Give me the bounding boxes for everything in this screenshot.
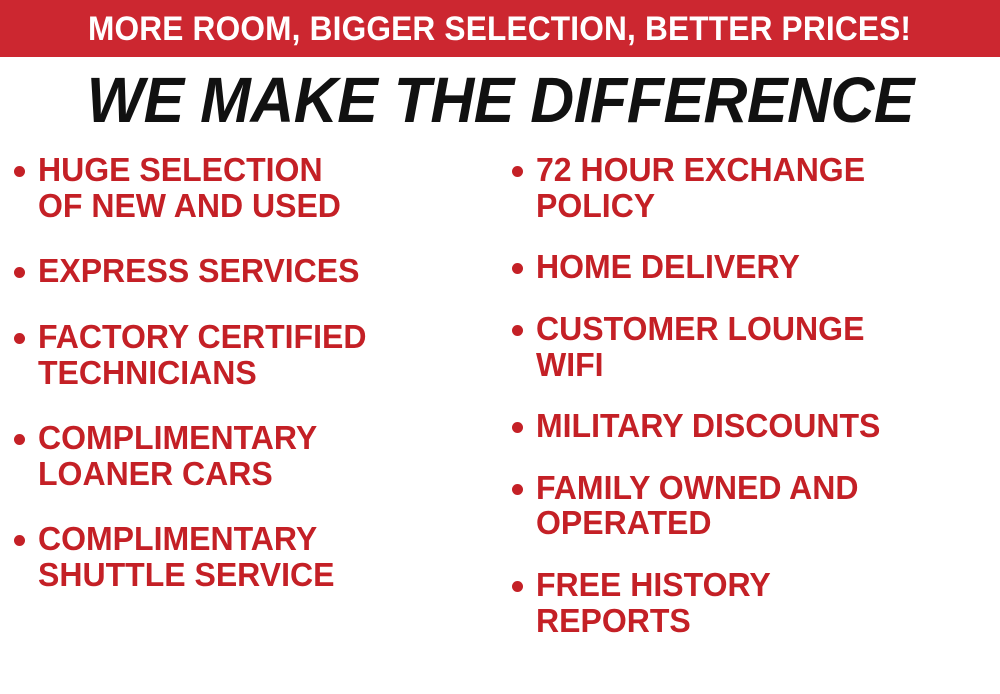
list-item-label: CUSTOMER LOUNGE WIFI [536, 311, 984, 382]
bullet-dot-icon [512, 484, 523, 495]
benefits-columns: HUGE SELECTION OF NEW AND USED EXPRESS S… [0, 152, 1000, 694]
list-item: MILITARY DISCOUNTS [512, 408, 998, 444]
list-item-label: MILITARY DISCOUNTS [536, 408, 984, 444]
bullet-dot-icon [14, 333, 25, 344]
ribbon-header: MORE ROOM, BIGGER SELECTION, BETTER PRIC… [0, 0, 1000, 57]
benefits-column-right: 72 HOUR EXCHANGE POLICY HOME DELIVERY CU… [500, 152, 1000, 664]
list-item-label: FREE HISTORY REPORTS [536, 567, 984, 638]
list-item: FACTORY CERTIFIED TECHNICIANS [14, 319, 496, 390]
list-item: HUGE SELECTION OF NEW AND USED [14, 152, 496, 223]
list-item: HOME DELIVERY [512, 249, 998, 285]
bullet-dot-icon [14, 166, 25, 177]
list-item: COMPLIMENTARY SHUTTLE SERVICE [14, 521, 496, 592]
benefits-column-left: HUGE SELECTION OF NEW AND USED EXPRESS S… [0, 152, 500, 623]
bullet-dot-icon [512, 166, 523, 177]
list-item: COMPLIMENTARY LOANER CARS [14, 420, 496, 491]
main-headline: WE MAKE THE DIFFERENCE [86, 68, 913, 132]
list-item: 72 HOUR EXCHANGE POLICY [512, 152, 998, 223]
headline-container: WE MAKE THE DIFFERENCE [0, 62, 1000, 137]
bullet-dot-icon [14, 267, 25, 278]
list-item-label: FACTORY CERTIFIED TECHNICIANS [38, 319, 482, 390]
ribbon-headline-text: MORE ROOM, BIGGER SELECTION, BETTER PRIC… [88, 12, 911, 46]
list-item: EXPRESS SERVICES [14, 253, 496, 289]
bullet-dot-icon [512, 325, 523, 336]
list-item-label: HOME DELIVERY [536, 249, 984, 285]
list-item-label: COMPLIMENTARY LOANER CARS [38, 420, 482, 491]
list-item-label: HUGE SELECTION OF NEW AND USED [38, 152, 482, 223]
list-item-label: COMPLIMENTARY SHUTTLE SERVICE [38, 521, 482, 592]
bullet-dot-icon [512, 263, 523, 274]
list-item-label: FAMILY OWNED AND OPERATED [536, 470, 984, 541]
bullet-dot-icon [14, 535, 25, 546]
list-item: FAMILY OWNED AND OPERATED [512, 470, 998, 541]
promotional-banner: MORE ROOM, BIGGER SELECTION, BETTER PRIC… [0, 0, 1000, 694]
list-item: FREE HISTORY REPORTS [512, 567, 998, 638]
bullet-dot-icon [512, 581, 523, 592]
bullet-dot-icon [512, 422, 523, 433]
list-item-label: EXPRESS SERVICES [38, 253, 482, 289]
list-item: CUSTOMER LOUNGE WIFI [512, 311, 998, 382]
bullet-dot-icon [14, 434, 25, 445]
list-item-label: 72 HOUR EXCHANGE POLICY [536, 152, 984, 223]
